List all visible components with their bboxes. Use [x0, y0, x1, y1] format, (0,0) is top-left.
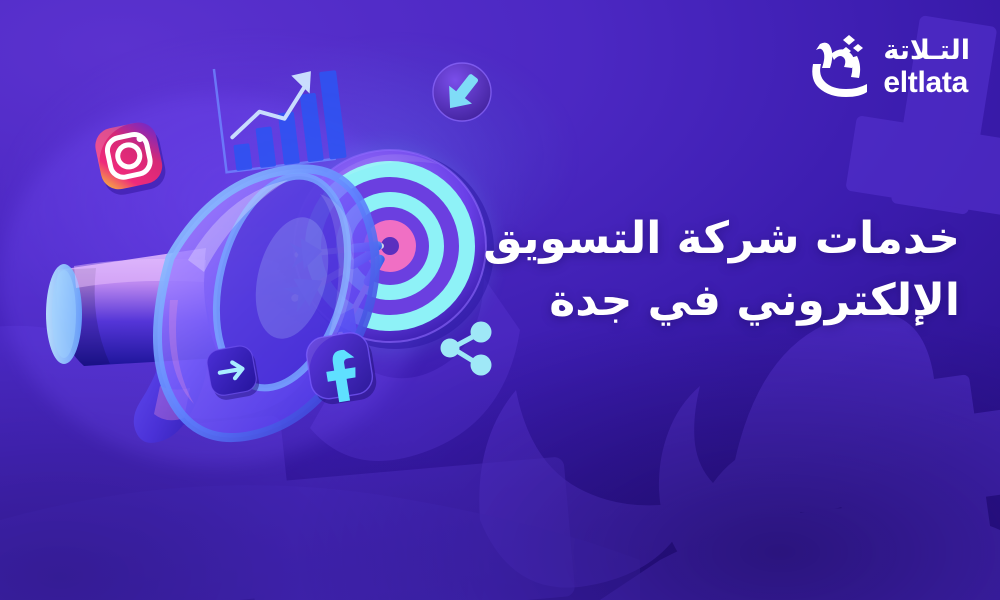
brand-name-arabic: التـلاتة [883, 37, 970, 64]
eltlata-calligraphy-mark-icon [807, 34, 869, 100]
headline-line-2: الإلكتروني في جدة [490, 270, 960, 332]
headline-line-1: خدمات شركة التسويق [490, 208, 960, 270]
download-arrow-icon [433, 63, 491, 121]
brand-logo-text: التـلاتة eltlata [883, 37, 970, 98]
page-title: خدمات شركة التسويق الإلكتروني في جدة [490, 208, 960, 333]
brand-logo[interactable]: التـلاتة eltlata [807, 34, 970, 100]
brand-name-latin: eltlata [883, 68, 968, 98]
hero-illustration [0, 0, 540, 600]
banner: التـلاتة eltlata خدمات شركة التسويق الإ [0, 0, 1000, 600]
